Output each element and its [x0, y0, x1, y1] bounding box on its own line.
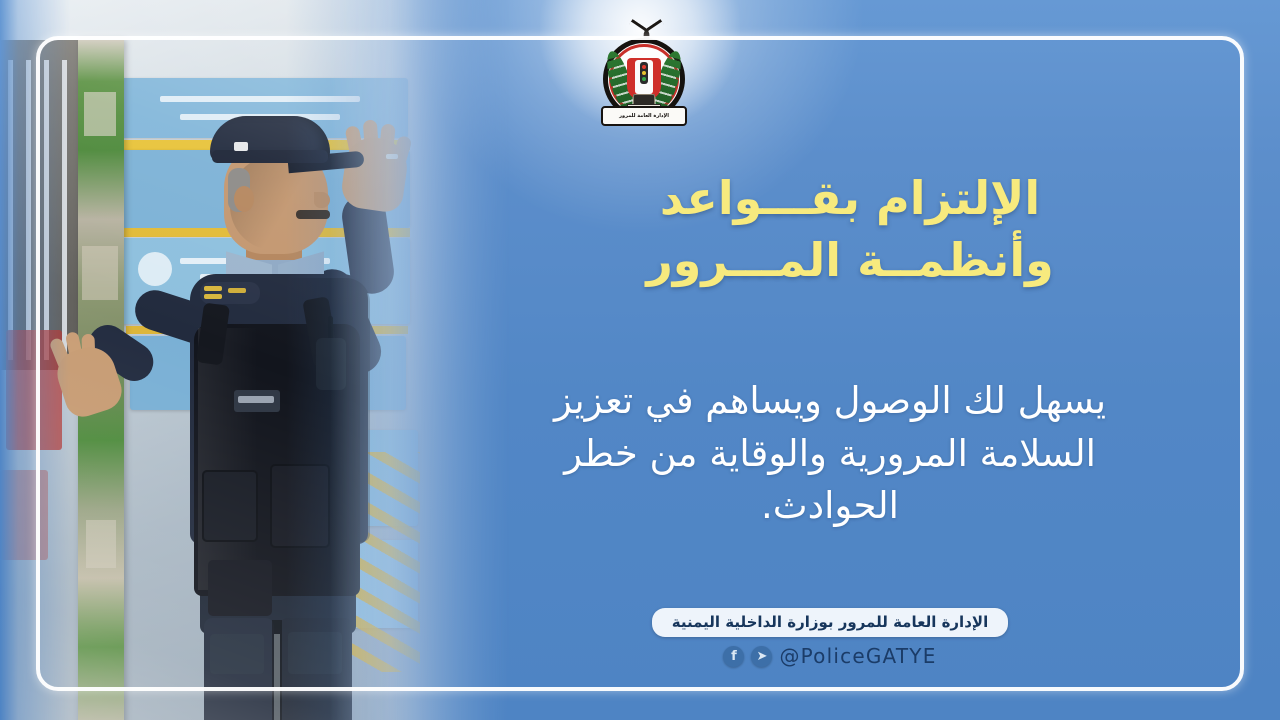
telegram-icon[interactable]: ➤ [751, 646, 772, 667]
officer-photo [0, 0, 520, 720]
organization-badge: الإدارة العامة للمرور بوزارة الداخلية ال… [652, 608, 1008, 637]
facebook-icon[interactable]: f [723, 646, 744, 667]
headline-block: الإلتزام بقـــواعد وأنظمــة المـــرور [540, 172, 1160, 287]
photo-blue-fade [0, 0, 520, 720]
social-handle-text: @PoliceGATYE [779, 644, 936, 668]
body-paragraph: يسهل لك الوصول ويساهم في تعزيز السلامة ا… [500, 375, 1160, 533]
footer-block: الإدارة العامة للمرور بوزارة الداخلية ال… [600, 608, 1060, 668]
headline-line-1: الإلتزام بقـــواعد [540, 172, 1160, 224]
social-handles: f ➤ @PoliceGATYE [600, 644, 1060, 668]
headline-line-2: وأنظمــة المـــرور [540, 234, 1160, 286]
poster-canvas: الإدارة العامة للمرور الإلتزام بقـــواعد… [0, 0, 1280, 720]
